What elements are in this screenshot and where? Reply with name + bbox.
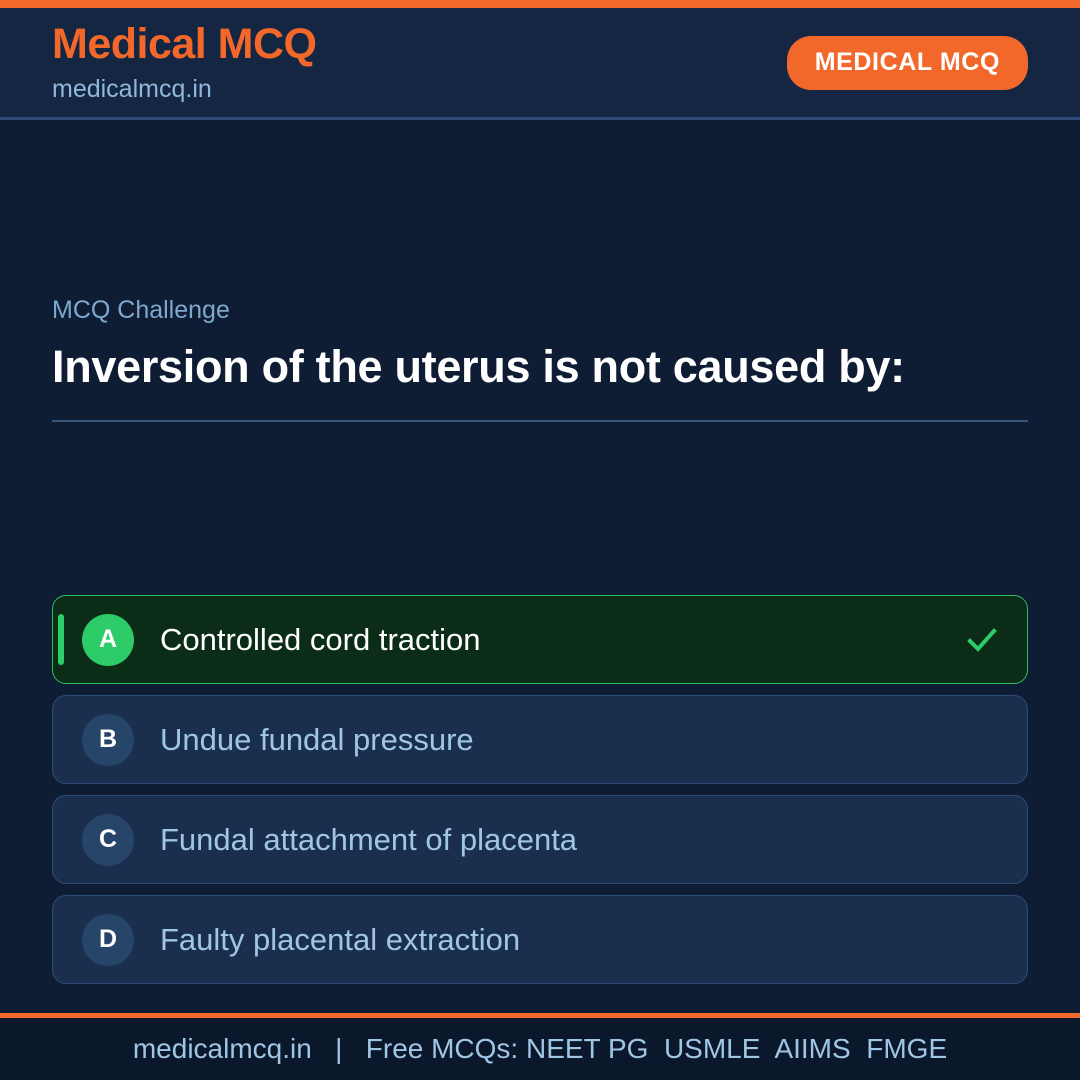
- correct-accent-bar: [58, 614, 64, 665]
- brand-subtitle: medicalmcq.in: [52, 77, 317, 102]
- options-list: A Controlled cord traction B Undue funda…: [52, 595, 1028, 984]
- brand-block: Medical MCQ medicalmcq.in: [52, 23, 317, 102]
- mcq-card: Medical MCQ medicalmcq.in MEDICAL MCQ MC…: [0, 0, 1080, 1080]
- question-divider: [52, 420, 1028, 422]
- eyebrow-label: MCQ Challenge: [52, 298, 1028, 323]
- option-letter-badge: C: [82, 814, 134, 866]
- option-text: Undue fundal pressure: [160, 724, 999, 755]
- option-text: Controlled cord traction: [160, 624, 965, 655]
- option-c[interactable]: C Fundal attachment of placenta: [52, 795, 1028, 884]
- option-letter-badge: D: [82, 914, 134, 966]
- app-header: Medical MCQ medicalmcq.in MEDICAL MCQ: [0, 8, 1080, 120]
- option-text: Faulty placental extraction: [160, 924, 999, 955]
- top-accent-bar: [0, 0, 1080, 8]
- app-footer: medicalmcq.in | Free MCQs: NEET PG USMLE…: [0, 1018, 1080, 1080]
- option-b[interactable]: B Undue fundal pressure: [52, 695, 1028, 784]
- brand-title: Medical MCQ: [52, 23, 317, 66]
- option-d[interactable]: D Faulty placental extraction: [52, 895, 1028, 984]
- footer-text: medicalmcq.in | Free MCQs: NEET PG USMLE…: [133, 1035, 947, 1063]
- option-text: Fundal attachment of placenta: [160, 824, 999, 855]
- main-content: MCQ Challenge Inversion of the uterus is…: [0, 120, 1080, 1013]
- option-letter-badge: A: [82, 614, 134, 666]
- header-badge: MEDICAL MCQ: [787, 36, 1028, 90]
- check-icon: [965, 623, 999, 657]
- option-a[interactable]: A Controlled cord traction: [52, 595, 1028, 684]
- question-text: Inversion of the uterus is not caused by…: [52, 340, 932, 393]
- option-letter-badge: B: [82, 714, 134, 766]
- question-block: MCQ Challenge Inversion of the uterus is…: [52, 298, 1028, 422]
